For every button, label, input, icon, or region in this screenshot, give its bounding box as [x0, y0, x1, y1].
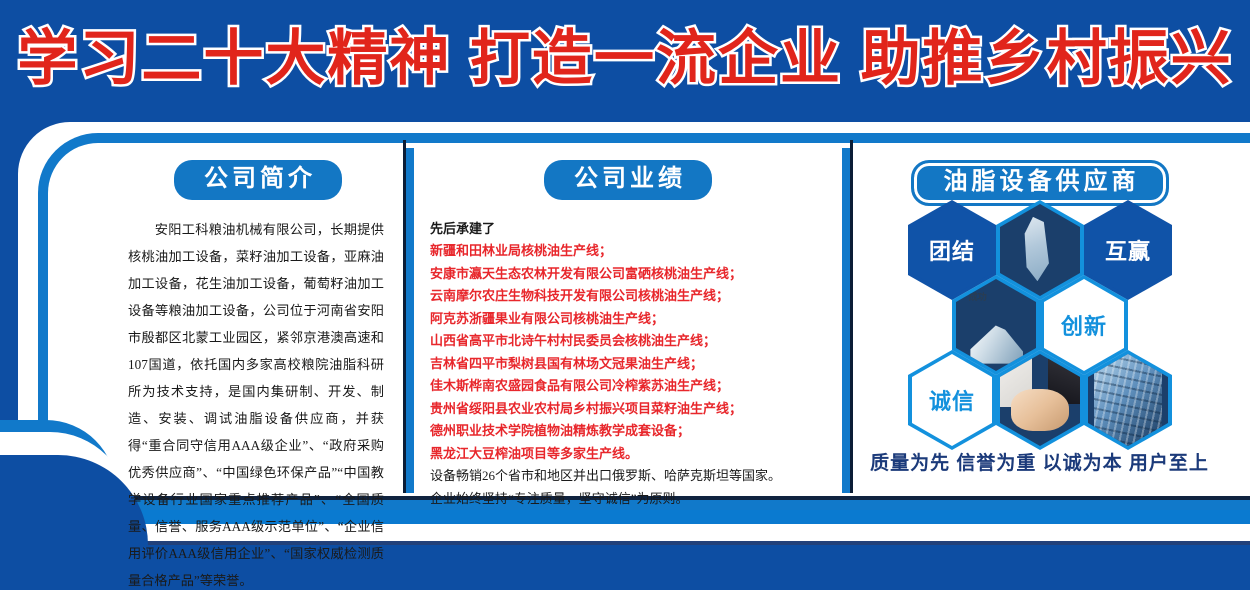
hex-chengxin-label: 诚信 — [929, 384, 975, 416]
project-line: 新疆和田林业局核桃油生产线； — [430, 240, 842, 263]
project-line: 云南摩尔农庄生物科技开发有限公司核桃油生产线； — [430, 285, 842, 308]
project-line: 佳木斯桦南农盛园食品有限公司冷榨紫苏油生产线； — [430, 375, 842, 398]
hex-chuangxin-inner: 创新 — [1044, 279, 1124, 371]
performance-footer-line: 企业始终坚持“专注质量，坚守诚信”为原则。 — [430, 488, 842, 511]
page-title: 学习二十大精神 打造一流企业 助推乡村振兴 — [0, 24, 1250, 94]
project-line: 山西省高平市北诗午村村民委员会核桃油生产线； — [430, 330, 842, 353]
project-line: 吉林省四平市梨树县国有林场文冠果油生产线； — [430, 353, 842, 376]
project-line: 贵州省绥阳县农业农村局乡村振兴项目菜籽油生产线； — [430, 398, 842, 421]
rocket-photo-caption: 成功 — [969, 290, 987, 303]
performance-footer-list: 设备畅销26个省市和地区并出口俄罗斯、哈萨克斯坦等国家。企业始终坚持“专注质量，… — [430, 465, 842, 510]
handshake-photo-icon — [1000, 354, 1080, 446]
rocket-launch-photo-icon: 成功 — [956, 279, 1036, 371]
project-line: 德州职业技术学院植物油精炼教学成套设备； — [430, 420, 842, 443]
badge-company-intro: 公司简介 — [174, 160, 342, 200]
performance-footer-line: 设备畅销26个省市和地区并出口俄罗斯、哈萨克斯坦等国家。 — [430, 465, 842, 488]
poster-board: 学习二十大精神 打造一流企业 助推乡村振兴 公司简介 安阳工科粮油机械有限公司，… — [0, 0, 1250, 590]
aircraft-carrier-photo-icon — [1000, 204, 1080, 296]
hex-huying-label: 互赢 — [1105, 234, 1151, 266]
company-intro-body: 安阳工科粮油机械有限公司，长期提供核桃油加工设备，菜籽油加工设备，亚麻油加工设备… — [128, 222, 384, 588]
skyscraper-photo-icon — [1088, 354, 1168, 446]
hex-chuangxin-label: 创新 — [1061, 309, 1107, 341]
hex-tuanjie-label: 团结 — [929, 234, 975, 266]
company-intro-text: 安阳工科粮油机械有限公司，长期提供核桃油加工设备，菜籽油加工设备，亚麻油加工设备… — [128, 216, 384, 590]
performance-lead: 先后承建了 — [430, 218, 842, 241]
hex-huying-inner: 互赢 — [1088, 204, 1168, 296]
frame-line-top — [98, 133, 1250, 143]
badge-company-performance: 公司业绩 — [544, 160, 712, 200]
hexagon-cluster: 团结 互赢 成功 — [850, 200, 1229, 440]
column-company-performance: 公司业绩 先后承建了 新疆和田林业局核桃油生产线；安康市瀛天生态农林开发有限公司… — [406, 148, 850, 493]
header-band: 学习二十大精神 打造一流企业 助推乡村振兴 — [0, 0, 1250, 115]
column-company-intro: 公司简介 安阳工科粮油机械有限公司，长期提供核桃油加工设备，菜籽油加工设备，亚麻… — [110, 148, 406, 493]
handshake-shape — [1011, 389, 1069, 431]
badge-oil-equipment-supplier: 油脂设备供应商 — [911, 160, 1169, 206]
project-line: 阿克苏浙疆果业有限公司核桃油生产线； — [430, 308, 842, 331]
project-line-list: 新疆和田林业局核桃油生产线；安康市瀛天生态农林开发有限公司富硒核桃油生产线；云南… — [430, 240, 842, 465]
hex-tuanjie-inner: 团结 — [912, 204, 992, 296]
hex-chengxin-inner: 诚信 — [912, 354, 992, 446]
project-line: 黑龙江大豆榨油项目等多家生产线。 — [430, 443, 842, 466]
columns-container: 公司简介 安阳工科粮油机械有限公司，长期提供核桃油加工设备，菜籽油加工设备，亚麻… — [110, 148, 1245, 493]
performance-list: 先后承建了 新疆和田林业局核桃油生产线；安康市瀛天生态农林开发有限公司富硒核桃油… — [430, 218, 842, 511]
column-supplier: 油脂设备供应商 团结 互赢 — [850, 148, 1229, 493]
project-line: 安康市瀛天生态农林开发有限公司富硒核桃油生产线； — [430, 263, 842, 286]
supplier-tagline: 质量为先 信誉为重 以诚为本 用户至上 — [850, 448, 1229, 475]
